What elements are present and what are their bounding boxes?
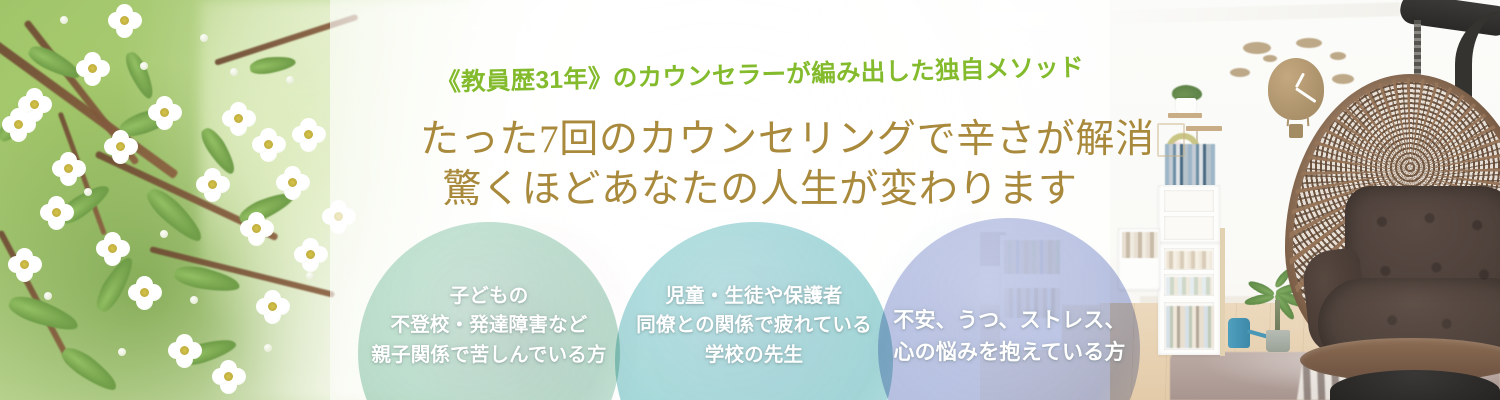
flower-bud (140, 62, 148, 70)
spirea-flower (256, 290, 290, 324)
spirea-flower (40, 196, 74, 230)
wall-shelf (1168, 113, 1202, 118)
spirea-flower (276, 166, 310, 200)
cloud-decal-icon (1330, 52, 1346, 60)
books-row (1166, 251, 1212, 269)
audience-label-school-teachers: 児童・生徒や保護者 同僚との関係で疲れている 学校の先生 (620, 282, 888, 370)
audience-line: 心の悩みを抱えている方 (882, 337, 1137, 369)
flower-bud (286, 76, 294, 84)
flower-bud (264, 344, 272, 352)
spirea-flower (128, 276, 162, 310)
audience-line: 児童・生徒や保護者 (620, 282, 888, 311)
flower-bud (200, 34, 208, 42)
chair-chain (1414, 20, 1421, 76)
shelf-compartment (1164, 190, 1214, 212)
watering-can-icon (1228, 318, 1250, 348)
missing-glyph-box (1157, 123, 1185, 157)
spirea-flower (148, 96, 182, 130)
cloud-decal-icon (1296, 38, 1322, 48)
audience-line: 子どもの (369, 282, 609, 311)
plant-pot (1266, 330, 1290, 352)
headline-line-1-text: たった7回のカウンセリングで辛さが解消 (420, 118, 1155, 161)
spirea-flower (76, 52, 110, 86)
cloud-decal-icon (1332, 74, 1354, 84)
hero-banner: 子どもの 不登校・発達障害など 親子関係で苦しんでいる方 児童・生徒や保護者 同… (0, 0, 1500, 400)
audience-label-mental-health: 不安、うつ、ストレス、 心の悩みを抱えている方 (882, 305, 1137, 368)
hanging-plant-pot (1176, 98, 1196, 114)
flower-bud (190, 296, 198, 304)
flower-bud (84, 188, 92, 196)
headline-line-1: たった7回のカウンセリングで辛さが解消 (420, 108, 1100, 164)
spirea-flower (2, 108, 36, 142)
spirea-flower (292, 118, 326, 152)
cloud-decal-icon (1243, 42, 1271, 54)
shelf-wood-panel (1220, 228, 1225, 356)
audience-line: 同僚との関係で疲れている (620, 311, 888, 340)
audience-line: 不登校・発達障害など (369, 311, 609, 340)
spirea-flower (322, 200, 356, 234)
spirea-flower (8, 248, 42, 282)
spirea-flower (196, 168, 230, 202)
audience-line: 不安、うつ、ストレス、 (882, 305, 1137, 337)
wall-shelf (1186, 126, 1222, 131)
spirea-flower (96, 232, 130, 266)
books-row (1166, 306, 1214, 348)
spirea-flower (240, 212, 274, 246)
spirea-flower (212, 360, 246, 394)
headline-line-2: 驚くほどあなたの人生が変わります (420, 158, 1100, 214)
flower-bud (160, 230, 168, 238)
spirea-flower (168, 334, 202, 368)
audience-label-children-family: 子どもの 不登校・発達障害など 親子関係で苦しんでいる方 (369, 282, 609, 370)
cloud-decal-icon (1230, 68, 1250, 77)
spirea-flower (52, 152, 86, 186)
flower-bud (306, 272, 314, 280)
flower-bud (230, 68, 238, 76)
plant-stem (1275, 300, 1280, 334)
spirea-flower (104, 130, 138, 164)
audience-line: 親子関係で苦しんでいる方 (369, 341, 609, 370)
shelf-compartment (1164, 216, 1214, 240)
flower-bud (44, 292, 52, 300)
spirea-flower (252, 128, 286, 162)
spirea-flower (294, 238, 328, 272)
cloud-decal-icon (1263, 55, 1277, 62)
spirea-flower (108, 4, 142, 38)
books-row (1166, 277, 1212, 295)
flower-bud (60, 16, 68, 24)
clock-balloon-basket (1289, 124, 1303, 138)
flower-bud (118, 348, 126, 356)
books-row (1122, 232, 1158, 258)
audience-line: 学校の先生 (620, 341, 888, 370)
spirea-flower (222, 102, 256, 136)
